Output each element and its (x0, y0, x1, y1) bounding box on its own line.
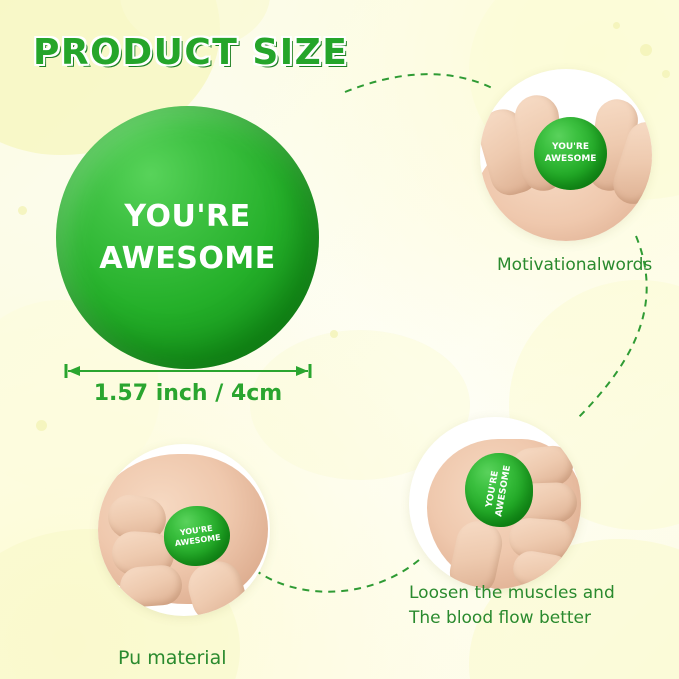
ball-inset-label: YOU'RE AWESOME (483, 463, 514, 518)
product-ball-inset: YOU'RE AWESOME (465, 453, 533, 527)
caption-line2: The blood flow better (409, 608, 591, 628)
ball-inset-label: YOU'RE AWESOME (545, 142, 597, 165)
background-dot (18, 206, 27, 215)
background-dot (662, 70, 670, 78)
photo-content: YOU'RE AWESOME (409, 417, 581, 589)
photo-content: YOU'RE AWESOME (98, 444, 270, 616)
caption-pu-material: Pu material (118, 645, 227, 673)
product-ball-inset: YOU'RE AWESOME (164, 506, 230, 566)
photo-content: YOU'RE AWESOME (480, 69, 652, 241)
caption-line1: Loosen the muscles and (409, 583, 615, 603)
product-ball-inset: YOU'RE AWESOME (534, 117, 607, 190)
background-dot (36, 420, 47, 431)
product-ball-main: YOU'RE AWESOME (56, 106, 319, 369)
page-title: PRODUCT SIZE (33, 32, 348, 73)
dimension-arrow (64, 362, 312, 380)
background-dot (613, 22, 620, 29)
dimension-label: 1.57 inch / 4cm (60, 381, 316, 406)
ball-text-line1: YOU'RE (124, 196, 250, 237)
background-dot (640, 44, 652, 56)
background-dot (330, 330, 338, 338)
finger-shape (119, 564, 184, 608)
caption-loosen-muscles: Loosen the muscles and The blood flow be… (409, 581, 615, 630)
photo-loosen-muscles: YOU'RE AWESOME (409, 417, 581, 589)
photo-motivational-words: YOU'RE AWESOME (480, 69, 652, 241)
ball-inset-label: YOU'RE AWESOME (173, 523, 221, 549)
photo-pu-material: YOU'RE AWESOME (98, 444, 270, 616)
product-size-infographic: PRODUCT SIZE YOU'RE AWESOME 1.57 inch / … (0, 0, 679, 679)
ball-text-line2: AWESOME (99, 238, 275, 279)
caption-motivational-words: Motivationalwords (497, 253, 652, 278)
